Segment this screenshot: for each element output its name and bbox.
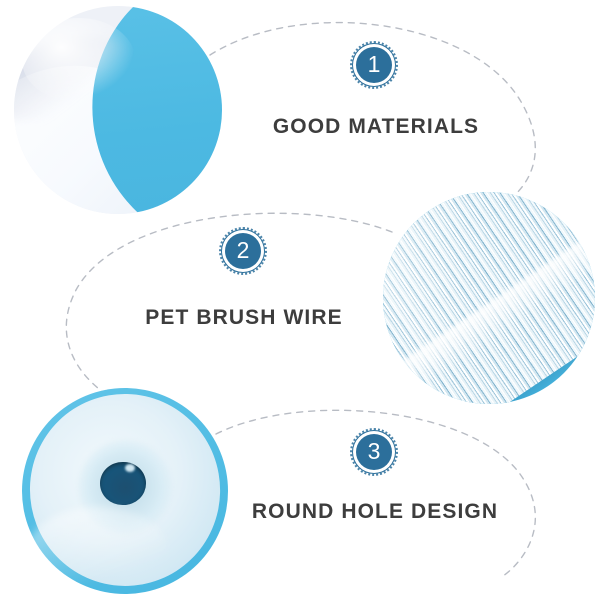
step-badge-3: 3 xyxy=(356,434,392,470)
photo-3-center-hole xyxy=(100,462,145,505)
step-badge-1: 1 xyxy=(356,47,392,83)
feature-photo-3 xyxy=(22,388,228,594)
infographic-canvas: 1 2 3 GOOD MATERIALS PET BRUSH WIRE ROUN… xyxy=(0,0,600,600)
feature-caption-3: ROUND HOLE DESIGN xyxy=(252,500,498,524)
step-badge-2-number: 2 xyxy=(237,239,250,262)
photo-3-lower-sheen xyxy=(26,507,170,594)
feature-caption-1: GOOD MATERIALS xyxy=(273,115,479,139)
feature-photo-2 xyxy=(383,192,595,404)
step-badge-1-number: 1 xyxy=(368,53,381,76)
photo-1-highlight xyxy=(22,18,134,101)
step-badge-3-number: 3 xyxy=(368,440,381,463)
feature-photo-1 xyxy=(14,6,222,214)
feature-caption-2: PET BRUSH WIRE xyxy=(145,306,342,330)
step-badge-2: 2 xyxy=(225,233,261,269)
